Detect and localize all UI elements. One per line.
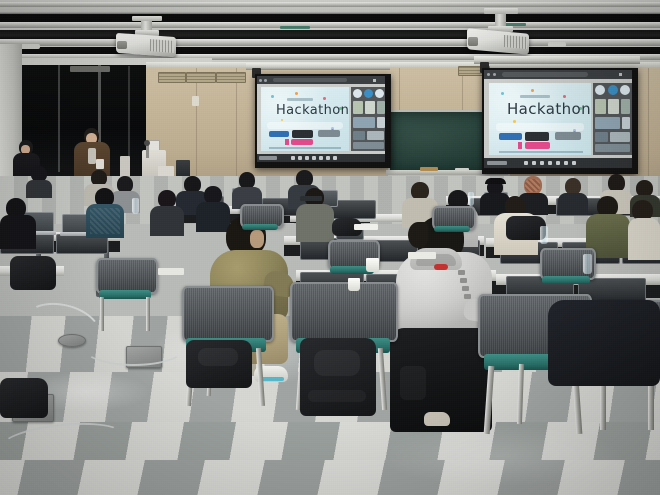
mesh-chair[interactable] xyxy=(432,206,472,246)
logo-nulab-left xyxy=(318,130,340,137)
floor-reflection xyxy=(380,426,620,486)
side-thumb xyxy=(367,131,384,140)
confetti xyxy=(271,95,274,98)
side-thumb xyxy=(353,117,375,128)
projector-lens xyxy=(468,37,478,46)
confetti xyxy=(563,95,566,98)
chair-leg xyxy=(517,364,524,424)
ceiling-gap-3 xyxy=(0,47,660,54)
backpack[interactable] xyxy=(186,340,252,388)
chalk-box xyxy=(420,167,438,171)
chair-seat xyxy=(242,224,278,230)
browser-dot xyxy=(493,73,496,76)
attendee-dark-hair-left xyxy=(0,198,36,248)
wall-seam-1 xyxy=(196,68,197,188)
confetti xyxy=(295,92,298,95)
side-thumb xyxy=(365,101,375,114)
ceiling-rail-2 xyxy=(0,22,660,28)
torso xyxy=(296,204,334,242)
projection-screen-left: Hackathon xyxy=(255,74,391,168)
side-icon xyxy=(608,85,618,95)
logo-twilio-left xyxy=(292,130,313,138)
slide-footer-right xyxy=(499,151,583,153)
confetti xyxy=(281,119,283,121)
attendee-far-5 xyxy=(232,172,262,206)
side-icon xyxy=(375,89,384,98)
ceiling-rail-1 xyxy=(0,2,660,7)
attendee-olive-shirt xyxy=(586,196,630,254)
attendee-foreground-right-coat xyxy=(548,300,660,386)
torso xyxy=(628,218,660,260)
ceiling-gap-2 xyxy=(0,30,660,39)
water-bottle[interactable] xyxy=(540,226,548,244)
side-thumb xyxy=(595,144,630,152)
projector-lens xyxy=(117,41,127,49)
chair-backrest xyxy=(182,286,274,342)
browser-dot xyxy=(259,79,262,82)
paper-sheet xyxy=(408,252,436,259)
backpack[interactable] xyxy=(300,338,376,416)
chair-leg xyxy=(146,297,150,331)
backpack[interactable] xyxy=(0,378,48,418)
chair-leg xyxy=(484,366,495,434)
paper-sheet xyxy=(158,268,184,275)
projector-vent xyxy=(504,35,527,49)
side-icon xyxy=(595,85,605,95)
confetti xyxy=(501,92,504,95)
side-thumb xyxy=(621,99,630,114)
side-icon xyxy=(364,89,373,98)
wall-air-vent xyxy=(158,72,186,83)
projector-vent xyxy=(150,39,174,53)
side-thumb xyxy=(595,132,608,142)
logo-mark xyxy=(285,139,289,145)
logo-acmee-left xyxy=(269,131,289,137)
curtain-track-bracket xyxy=(70,66,110,72)
wall-speaker xyxy=(192,96,199,106)
wall-air-vent xyxy=(216,72,246,83)
ceiling-sprinkler-right xyxy=(548,42,566,47)
sleeve-print-char xyxy=(458,270,465,275)
ceiling-projector-right xyxy=(462,8,542,60)
photo-lecture-hall-hackathon: Hackathon xyxy=(0,0,660,495)
torso xyxy=(0,215,36,249)
mesh-chair[interactable] xyxy=(240,204,280,244)
curtain-light-seam-3 xyxy=(128,66,130,162)
paper-sheet xyxy=(354,224,378,230)
curtain-light-seam-1 xyxy=(58,60,60,172)
coat-pocket xyxy=(400,366,426,400)
side-thumb xyxy=(595,117,620,129)
slide-hackathon-left: Hackathon xyxy=(261,87,349,151)
wall-air-vent xyxy=(186,72,216,83)
slide-kicker-left xyxy=(287,98,313,101)
chair-backrest xyxy=(96,258,158,294)
water-bottle[interactable] xyxy=(468,192,474,206)
screen-right-roller xyxy=(474,56,640,64)
wall-seam-2 xyxy=(236,68,237,188)
browser-dot xyxy=(264,79,267,82)
shirt-pattern xyxy=(90,208,120,234)
mesh-chair[interactable] xyxy=(96,258,154,330)
confetti xyxy=(323,97,326,100)
chair-seat xyxy=(542,276,590,284)
chair-leg xyxy=(256,348,265,406)
wall-seam-5 xyxy=(648,68,649,188)
confetti xyxy=(531,89,534,92)
sleeve-print-char xyxy=(460,278,467,283)
os-taskbar-right xyxy=(484,158,632,168)
side-thumb xyxy=(377,101,385,114)
side-icon xyxy=(620,85,630,95)
logo-acmee-right xyxy=(499,133,522,140)
os-taskbar-left xyxy=(257,154,385,162)
floor-box xyxy=(120,156,130,178)
slide-kicker-right xyxy=(520,95,550,98)
side-thumb xyxy=(610,132,630,142)
side-thumb xyxy=(353,131,365,140)
shirt xyxy=(88,148,96,164)
browser-menu-dot xyxy=(619,73,622,76)
slide-title-left: Hackathon xyxy=(276,103,349,118)
attendee-teal-shirt xyxy=(86,188,124,236)
headscarf-pattern xyxy=(525,179,540,192)
attendee-far-1 xyxy=(26,166,52,196)
chair-leg xyxy=(100,297,104,331)
logo-twilio-right xyxy=(525,132,549,141)
logo-nulab-right xyxy=(555,132,581,140)
desk-device[interactable] xyxy=(300,196,322,201)
torso xyxy=(26,180,52,198)
paper-cup[interactable] xyxy=(348,278,360,291)
browser-url-bar-right xyxy=(502,72,588,77)
side-thumb xyxy=(353,101,363,114)
baseball-cap xyxy=(485,178,506,184)
chair-seat xyxy=(99,290,151,299)
side-icon xyxy=(353,89,362,98)
red-object[interactable] xyxy=(434,264,448,270)
power-cable xyxy=(82,328,186,366)
attendee-mid-3 xyxy=(150,190,184,234)
slide-wave xyxy=(267,122,343,129)
side-thumb xyxy=(622,117,630,129)
chair-seat xyxy=(434,226,470,232)
side-thumb xyxy=(595,99,606,114)
side-thumb xyxy=(377,117,385,128)
chalkboard-eraser xyxy=(455,168,469,171)
attendee-right-edge xyxy=(628,200,660,256)
ceiling-gap-1 xyxy=(0,14,660,22)
chair-leg xyxy=(378,348,387,410)
torso xyxy=(150,206,184,236)
water-bottle[interactable] xyxy=(132,198,139,214)
name-badge xyxy=(96,159,104,169)
microphone-head xyxy=(144,140,150,146)
slide-hackathon-right: Hackathon xyxy=(489,83,591,155)
screen-left-roller xyxy=(246,63,390,70)
slide-wave xyxy=(496,123,584,131)
sleeve-print-char xyxy=(462,286,469,291)
ceiling-label-left xyxy=(280,26,310,29)
browser-url-bar-left xyxy=(273,78,347,82)
paper-cup[interactable] xyxy=(366,258,379,272)
microphone-stand xyxy=(146,144,149,158)
browser-dot xyxy=(487,73,490,76)
projection-screen-right: Hackathon xyxy=(482,68,638,174)
logo-fiveso-left xyxy=(291,139,313,145)
slide-footer-left xyxy=(269,147,341,149)
torso xyxy=(558,193,588,215)
side-thumb xyxy=(608,99,619,114)
side-thumb xyxy=(353,142,384,149)
browser-menu-dot xyxy=(373,79,376,82)
backpack[interactable] xyxy=(10,256,56,290)
slide-title-right: Hackathon xyxy=(507,100,591,118)
logo-fiveso-right xyxy=(525,142,550,149)
logo-mark xyxy=(518,142,522,149)
water-bottle[interactable] xyxy=(583,254,592,274)
shoe xyxy=(424,412,450,426)
attendee-far-9 xyxy=(558,178,588,212)
hair-side xyxy=(408,222,428,248)
